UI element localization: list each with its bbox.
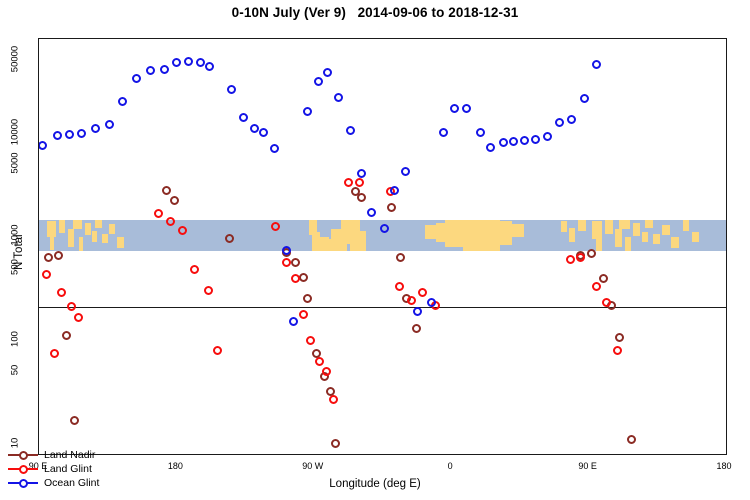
chart-canvas: 0-10N July (Ver 9) 2014-09-06 to 2018-12… [0,0,750,500]
map-land-region [73,220,82,229]
data-point [50,349,59,358]
data-point [355,178,364,187]
data-point [74,313,83,322]
map-land-region [671,237,679,248]
data-point [65,130,74,139]
data-point [509,137,518,146]
legend-marker-icon [8,477,38,489]
data-point [146,66,155,75]
legend-marker-icon [8,449,38,461]
chart-title: 0-10N July (Ver 9) 2014-09-06 to 2018-12… [0,5,750,20]
data-point [239,113,248,122]
data-point [322,367,331,376]
map-land-region [619,220,630,229]
x-axis-tick [451,454,452,455]
data-point [271,222,280,231]
data-point [282,246,291,255]
map-land-region [683,220,689,231]
map-land-region [59,220,65,233]
data-point [314,77,323,86]
x-axis-tick-label: 180 [716,461,731,471]
y-axis-tick-label: 50000 [10,44,21,74]
data-point [291,274,300,283]
data-point [387,203,396,212]
data-point [57,288,66,297]
data-point [520,136,529,145]
data-point [132,74,141,83]
data-point [259,128,268,137]
data-point [250,124,259,133]
data-point [613,346,622,355]
data-point [62,331,71,340]
data-point [380,224,389,233]
x-axis-tick-label: 90 E [578,461,597,471]
data-point [270,144,279,153]
data-point [439,128,448,137]
data-point [53,131,62,140]
x-axis-tick-label: 0 [448,461,453,471]
data-point [592,60,601,69]
map-land-region [509,224,524,237]
map-land-region [633,223,641,236]
data-point [91,124,100,133]
data-point [303,294,312,303]
data-point [344,178,353,187]
data-point [499,138,508,147]
y-axis-tick-label: 5000 [10,148,21,178]
map-land-region [68,229,74,246]
map-land-region [569,228,575,242]
data-point [531,135,540,144]
y-axis-tick [38,340,39,341]
data-point [580,94,589,103]
data-point [184,57,193,66]
y-axis-tick [38,236,39,237]
map-land-region [109,224,115,233]
data-point [315,357,324,366]
data-point [367,208,376,217]
data-point [105,120,114,129]
data-point [599,274,608,283]
y-axis-title: N Total [13,234,25,270]
data-point [555,118,564,127]
data-point [450,104,459,113]
data-point [54,251,63,260]
data-point [38,141,47,150]
y-axis-tick [38,268,39,269]
x-axis-tick-label: 180 [168,461,183,471]
data-point [476,128,485,137]
data-point [213,346,222,355]
y-axis-tick [38,164,39,165]
map-land-region [592,221,603,238]
data-point [154,209,163,218]
map-land-region [95,220,101,228]
y-axis-tick [38,60,39,61]
data-point [412,324,421,333]
data-point [42,270,51,279]
data-point [204,286,213,295]
y-axis-tick [38,371,39,372]
data-point [70,416,79,425]
data-point [282,258,291,267]
data-point [587,249,596,258]
y-axis-tick-label: 10000 [10,117,21,147]
x-axis-title: Longitude (deg E) [0,478,750,490]
legend-item: Land Glint [8,462,99,476]
map-land-region [578,220,586,231]
data-point [170,196,179,205]
map-land-region [561,221,567,232]
data-point [427,298,436,307]
data-point [566,255,575,264]
plot-area [38,38,727,455]
data-point [227,85,236,94]
data-point [289,317,298,326]
data-point [166,217,175,226]
x-axis-tick [589,454,590,455]
data-point [357,169,366,178]
map-land-region [625,237,631,251]
map-land-region [642,232,648,243]
data-point [190,265,199,274]
data-point [178,226,187,235]
map-land-region [596,237,602,251]
map-land-region [117,237,125,248]
legend-label: Land Glint [44,462,92,476]
data-point [205,62,214,71]
reference-line [39,307,726,308]
data-point [77,129,86,138]
map-land-region [79,237,84,251]
map-land-region [102,234,108,243]
data-point [44,253,53,262]
data-point [357,193,366,202]
data-point [396,253,405,262]
legend-label: Ocean Glint [44,476,99,490]
data-point [486,143,495,152]
data-point [346,126,355,135]
data-point [329,395,338,404]
y-axis-tick [38,133,39,134]
map-land-region [605,220,613,234]
map-land-region [645,220,653,228]
data-point [303,107,312,116]
data-point [291,258,300,267]
legend-label: Land Nadir [44,448,95,462]
data-point [390,186,399,195]
data-point [162,186,171,195]
x-axis-tick-label: 90 W [302,461,323,471]
data-point [543,132,552,141]
data-point [576,253,585,262]
data-point [172,58,181,67]
data-point [395,282,404,291]
y-axis-tick-label: 50 [10,355,21,385]
data-point [592,282,601,291]
data-point [323,68,332,77]
x-axis-tick [725,454,726,455]
data-point [413,307,422,316]
x-axis-tick [314,454,315,455]
map-land-region [653,234,661,244]
data-point [67,302,76,311]
chart-legend: Land NadirLand GlintOcean Glint [8,448,99,490]
data-point [160,65,169,74]
data-point [118,97,127,106]
map-land-region [662,225,670,235]
legend-marker-icon [8,463,38,475]
data-point [196,58,205,67]
data-point [407,296,416,305]
legend-item: Ocean Glint [8,476,99,490]
data-point [401,167,410,176]
data-point [418,288,427,297]
legend-item: Land Nadir [8,448,99,462]
data-point [462,104,471,113]
data-point [627,435,636,444]
y-axis-tick-label: 100 [10,324,21,354]
data-point [299,310,308,319]
x-axis-tick [176,454,177,455]
map-land-region [350,231,365,252]
map-land-region [50,235,55,249]
data-point [306,336,315,345]
data-point [331,439,340,448]
y-axis-tick [38,444,39,445]
data-point [334,93,343,102]
map-land-region [692,232,698,242]
map-land-region [85,223,91,236]
data-point [615,333,624,342]
map-land-region [615,229,623,247]
data-point [567,115,576,124]
map-land-region [92,231,97,242]
